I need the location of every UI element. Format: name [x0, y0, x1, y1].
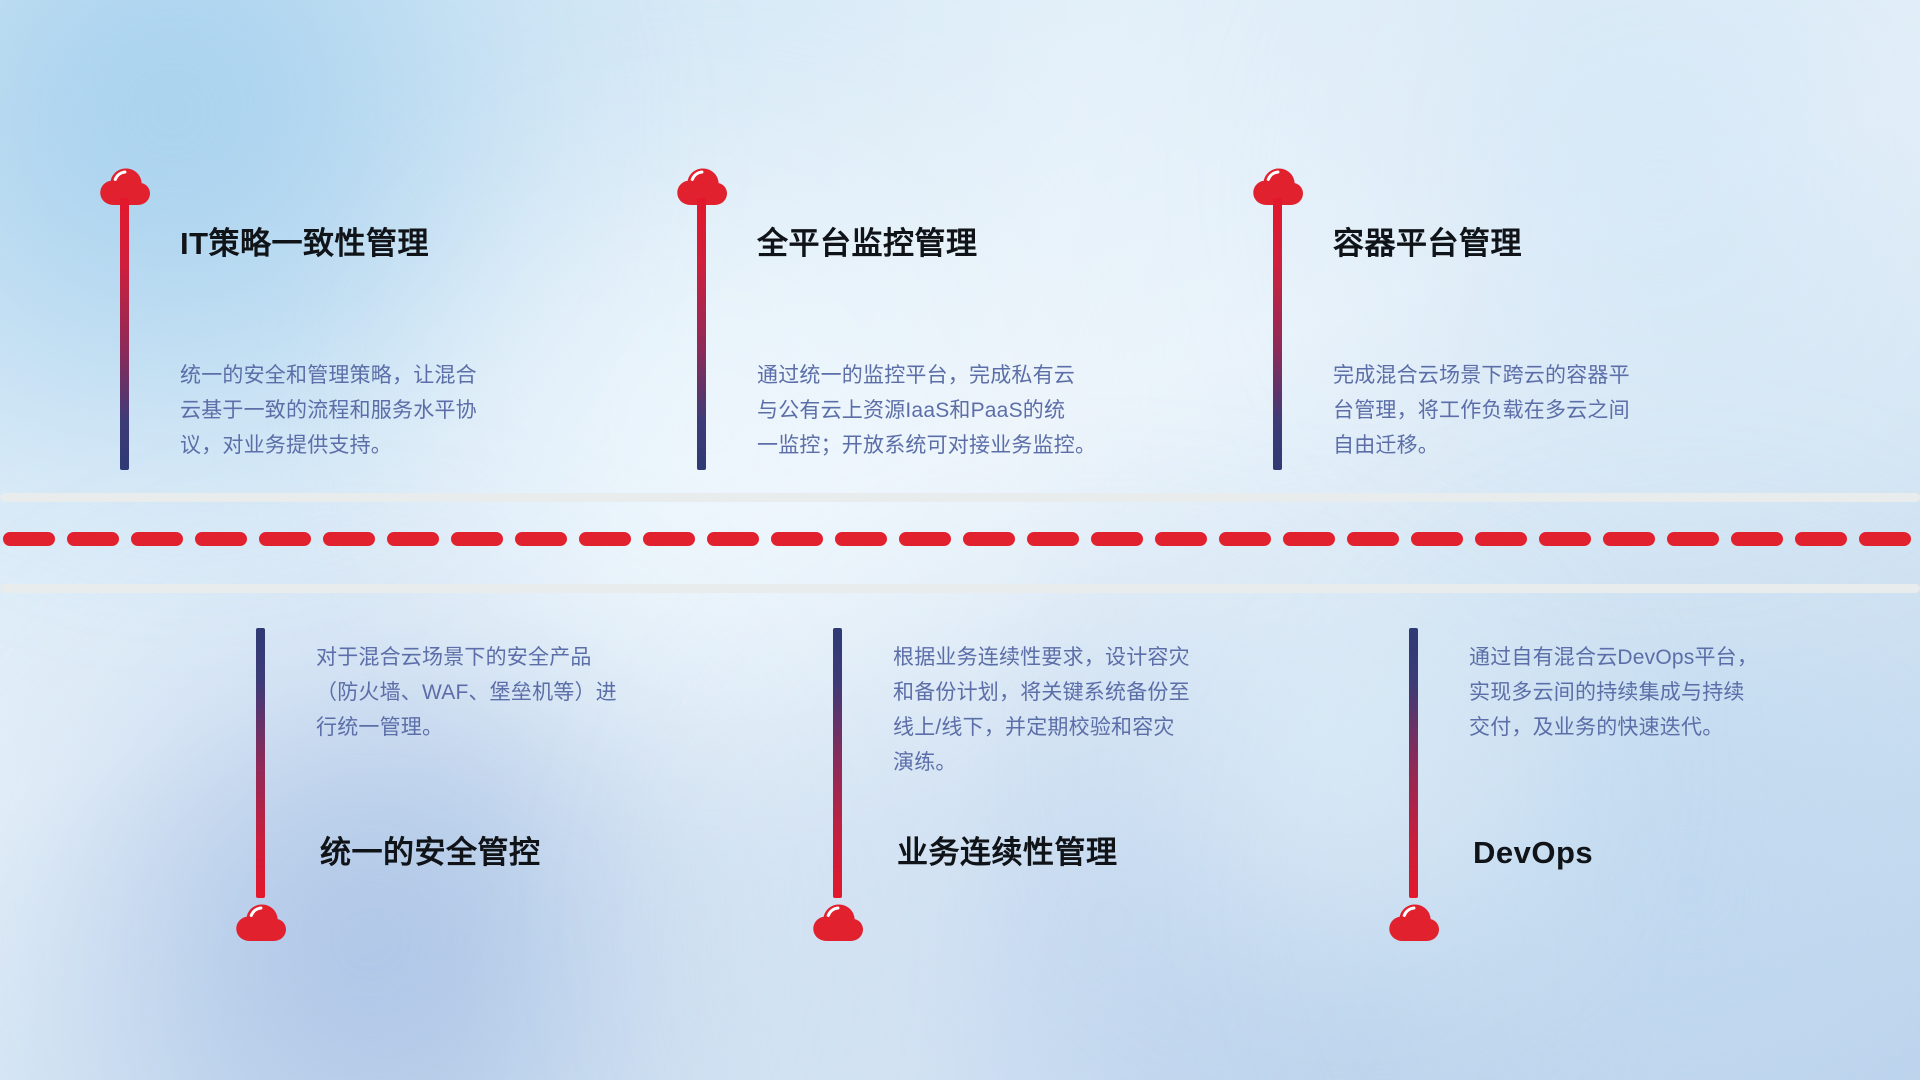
cloud-icon: [1385, 898, 1443, 942]
divider-line-top: [0, 493, 1920, 502]
item-heading: IT策略一致性管理: [180, 228, 429, 259]
item-heading: 业务连续性管理: [897, 837, 1118, 868]
connector-bar: [833, 628, 842, 898]
item-body: 对于混合云场景下的安全产品 （防火墙、WAF、堡垒机等）进 行统一管理。: [316, 640, 746, 745]
item-body: 通过自有混合云DevOps平台， 实现多云间的持续集成与持续 交付，及业务的快速…: [1469, 640, 1899, 745]
divider-dashed-line: [0, 532, 1920, 546]
cloud-icon: [232, 898, 290, 942]
item-heading: DevOps: [1473, 837, 1593, 868]
item-body: 完成混合云场景下跨云的容器平 台管理，将工作负载在多云之间 自由迁移。: [1333, 358, 1763, 463]
item-heading: 全平台监控管理: [757, 228, 978, 259]
item-body: 通过统一的监控平台，完成私有云 与公有云上资源IaaS和PaaS的统 一监控；开…: [757, 358, 1207, 463]
section-divider: [0, 480, 1920, 600]
item-heading: 统一的安全管控: [320, 837, 541, 868]
connector-bar: [256, 628, 265, 898]
item-body: 统一的安全和管理策略，让混合 云基于一致的流程和服务水平协 议，对业务提供支持。: [180, 358, 610, 463]
infographic-canvas: IT策略一致性管理 统一的安全和管理策略，让混合 云基于一致的流程和服务水平协 …: [0, 0, 1920, 1080]
connector-bar: [1273, 198, 1282, 470]
cloud-icon: [809, 898, 867, 942]
connector-bar: [1409, 628, 1418, 898]
connector-bar: [697, 198, 706, 470]
divider-line-bottom: [0, 584, 1920, 593]
item-body: 根据业务连续性要求，设计容灾 和备份计划，将关键系统备份至 线上/线下，并定期校…: [893, 640, 1323, 780]
connector-bar: [120, 198, 129, 470]
item-heading: 容器平台管理: [1333, 228, 1522, 259]
